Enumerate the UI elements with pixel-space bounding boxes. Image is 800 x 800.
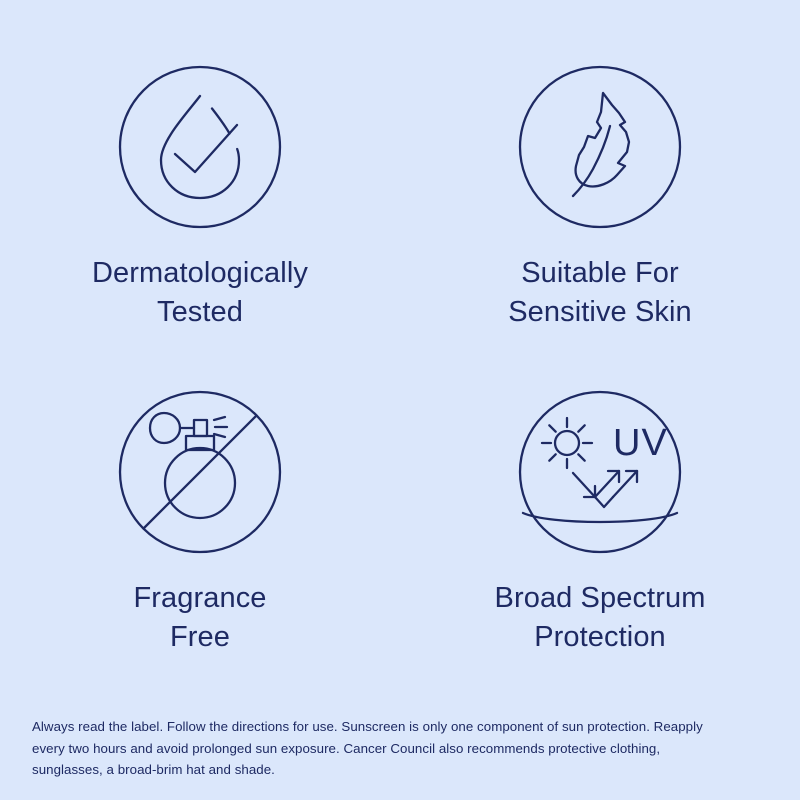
droplet-check-icon	[115, 62, 285, 232]
features-grid: Dermatologically Tested Suitable For Sen…	[0, 40, 800, 690]
feature-suitable-sensitive-skin: Suitable For Sensitive Skin	[400, 40, 800, 365]
feature-dermatologically-tested: Dermatologically Tested	[0, 40, 400, 365]
feather-icon	[515, 62, 685, 232]
uv-label: UV	[613, 422, 668, 464]
feature-label: Dermatologically Tested	[92, 254, 308, 332]
no-fragrance-icon	[115, 387, 285, 557]
product-feature-panel: Dermatologically Tested Suitable For Sen…	[0, 0, 800, 800]
feature-label: Fragrance Free	[133, 579, 266, 657]
feature-broad-spectrum-protection: UV Broad Spectrum Protection	[400, 365, 800, 690]
uv-protection-icon: UV	[515, 387, 685, 557]
feature-label: Broad Spectrum Protection	[495, 579, 706, 657]
feature-label: Suitable For Sensitive Skin	[508, 254, 692, 332]
feature-fragrance-free: Fragrance Free	[0, 365, 400, 690]
disclaimer-text: Always read the label. Follow the direct…	[32, 716, 732, 781]
